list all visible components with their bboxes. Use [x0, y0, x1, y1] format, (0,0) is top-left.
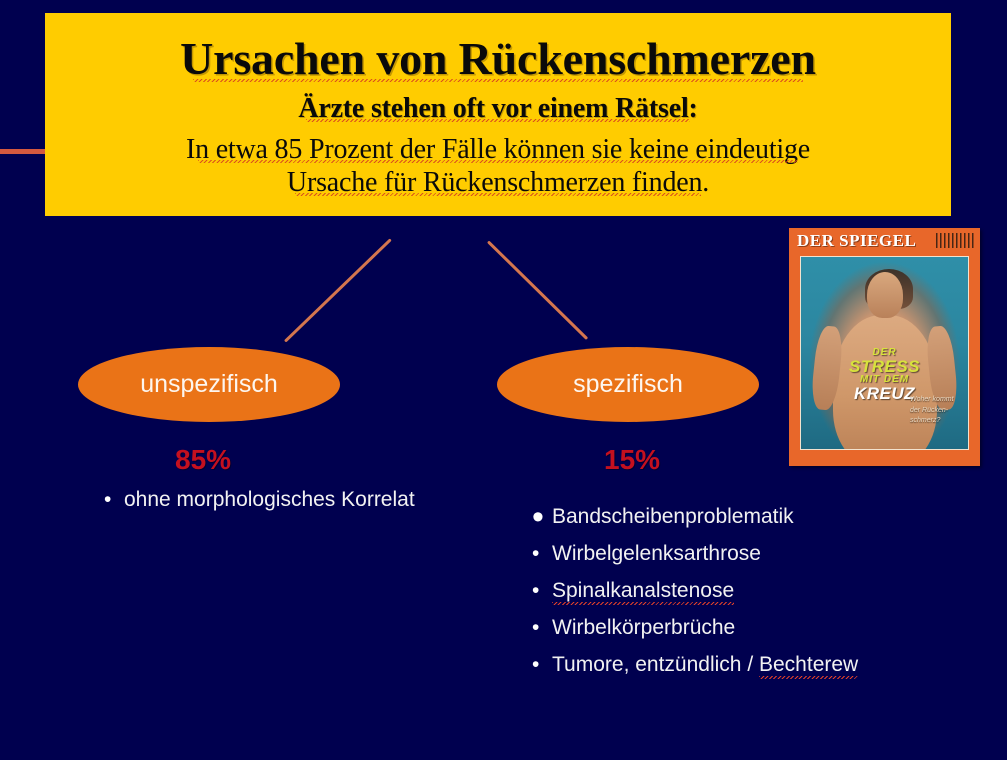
left-accent-rule: [0, 149, 46, 154]
barcode-icon: [936, 233, 974, 248]
percent-unspezifisch: 85%: [175, 444, 231, 476]
magazine-masthead: DER SPIEGEL: [789, 228, 980, 254]
title-body-line-1: In etwa 85 Prozent der Fälle können sie …: [45, 135, 951, 164]
list-item-label: Wirbelkörperbrüche: [552, 616, 735, 640]
node-spezifisch-label: spezifisch: [573, 370, 683, 399]
list-item-label: Bandscheibenproblematik: [552, 505, 794, 529]
head-shape: [867, 272, 903, 318]
node-unspezifisch-label: unspezifisch: [140, 370, 278, 399]
list-item: • Wirbelgelenksarthrose: [532, 542, 962, 566]
page-title-text: Ursachen von Rückenschmerzen: [180, 35, 816, 83]
bullet-dot-icon: •: [532, 653, 552, 677]
title-subtitle-text: Ärzte stehen oft vor einem Rätsel:: [298, 94, 697, 123]
list-item-label-misspelled: Bechterew: [759, 653, 858, 677]
title-subtitle: Ärzte stehen oft vor einem Rätsel:: [45, 94, 951, 123]
bullet-list-spezifisch: • Bandscheibenproblematik • Wirbelgelenk…: [532, 505, 962, 690]
magazine-cover-image: DER SPIEGEL DER STRESS MIT DEM KREUZ Woh…: [789, 228, 980, 466]
bullet-list-unspezifisch: • ohne morphologisches Korrelat: [104, 486, 434, 515]
list-item: • ohne morphologisches Korrelat: [104, 486, 434, 515]
bullet-dot-icon: •: [104, 486, 124, 515]
node-spezifisch: spezifisch: [497, 347, 759, 422]
bullet-dot-icon: •: [532, 616, 552, 640]
list-item-label-plain: Tumore, entzündlich /: [552, 653, 759, 676]
slide-canvas: Ursachen von Rückenschmerzen Ärzte stehe…: [0, 0, 1007, 760]
list-item: • Bandscheibenproblematik: [532, 505, 962, 529]
magazine-masthead-title: DER SPIEGEL: [797, 231, 916, 251]
magazine-cover-photo: DER STRESS MIT DEM KREUZ Woher kommt der…: [800, 256, 969, 450]
list-item: • Tumore, entzündlich / Bechterew: [532, 653, 962, 677]
title-body-line-1-text: In etwa 85 Prozent der Fälle können sie …: [186, 135, 810, 164]
title-banner: Ursachen von Rückenschmerzen Ärzte stehe…: [45, 13, 951, 216]
title-body-line-2-text: Ursache für Rückenschmerzen finden.: [287, 168, 709, 197]
percent-spezifisch: 15%: [604, 444, 660, 476]
bullet-dot-icon: •: [532, 542, 552, 566]
list-item-label: Wirbelgelenksarthrose: [552, 542, 761, 566]
title-body-line-2: Ursache für Rückenschmerzen finden.: [45, 168, 951, 197]
connector-line-left: [284, 238, 392, 342]
list-item-label: Spinalkanalstenose: [552, 579, 734, 603]
list-item: • Spinalkanalstenose: [532, 579, 962, 603]
list-item: • Wirbelkörperbrüche: [532, 616, 962, 640]
node-unspezifisch: unspezifisch: [78, 347, 340, 422]
bullet-dot-icon: •: [532, 579, 552, 603]
list-item-label: Tumore, entzündlich / Bechterew: [552, 653, 858, 677]
magazine-cover-kicker: Woher kommt der Rücken-schmerz?: [910, 395, 962, 427]
list-item-label: ohne morphologisches Korrelat: [124, 486, 415, 515]
connector-line-right: [487, 240, 588, 340]
bullet-dot-icon: •: [532, 505, 552, 529]
page-title: Ursachen von Rückenschmerzen: [45, 35, 951, 83]
